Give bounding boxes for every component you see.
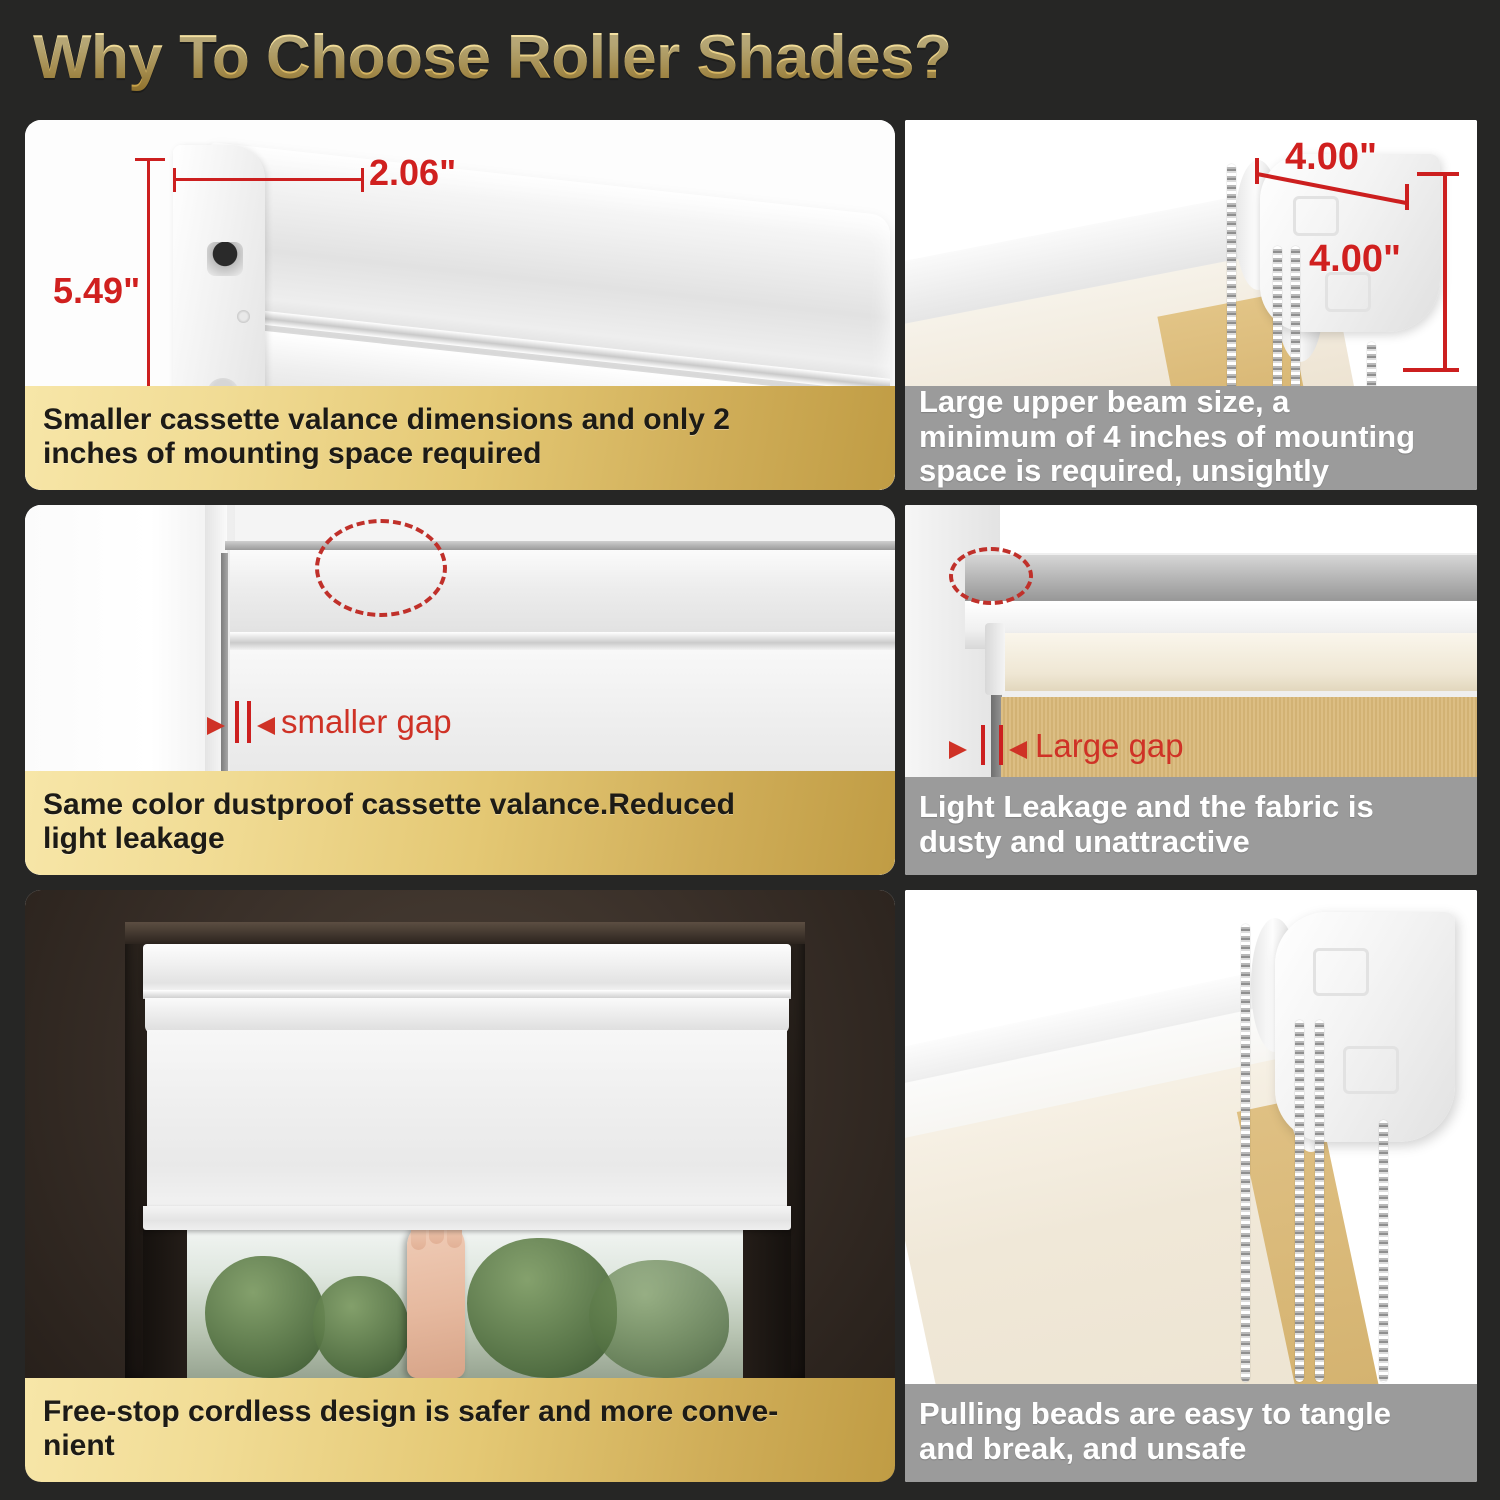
width-dimension-label: 2.06": [369, 152, 456, 194]
panel-con-beaded-chain: Pulling beads are easy to tangle and bre…: [905, 890, 1477, 1482]
window-glass: [185, 1230, 745, 1378]
beam-width-tick-left: [1255, 158, 1259, 184]
width-dimension-tick-right: [361, 168, 364, 192]
bead-chain-1: [1241, 924, 1250, 1382]
gap-callout-label: Large gap: [1035, 727, 1184, 765]
caption-bar-pro-cassette-size: Smaller cassette valance dimensions and …: [25, 386, 895, 490]
title-bar: Why To Choose Roller Shades?: [0, 0, 1500, 112]
roller-tube: [145, 998, 789, 1034]
caption-bar-con-light-leakage: Light Leakage and the fabric is dusty an…: [905, 777, 1477, 875]
caption-text: Smaller cassette valance dimensions and …: [43, 403, 730, 470]
beam-height-dimension-label: 4.00": [1309, 238, 1401, 281]
panel-con-light-leakage: Large gap Light Leakage and the fabric i…: [905, 505, 1477, 875]
width-dimension-tick-left: [173, 168, 176, 192]
gap-marker-line-2: [247, 701, 251, 743]
caption-bar-pro-light-leakage: Same color dustproof cassette valance.Re…: [25, 771, 895, 875]
caption-text: Pulling beads are easy to tangle and bre…: [919, 1397, 1391, 1466]
gap-highlight-circle: [315, 519, 447, 617]
gap-arrow-left: [949, 741, 967, 759]
gap-highlight-circle: [949, 547, 1033, 605]
bracket-emboss-upper: [1313, 948, 1369, 996]
beam-width-tick-right: [1405, 184, 1409, 210]
panel-pro-light-leakage: smaller gap Same color dustproof cassett…: [25, 505, 895, 875]
panel-pro-cordless: Free-stop cordless design is safer and m…: [25, 890, 895, 1482]
end-cap-slot-upper: [207, 242, 243, 276]
panel-pro-cassette-size: 5.49" 2.06" Smaller cassette valance dim…: [25, 120, 895, 490]
gap-arrow-right: [1009, 741, 1027, 759]
gap-callout-label: smaller gap: [281, 703, 452, 741]
end-cap-screw: [237, 310, 250, 323]
cassette-valance: [143, 944, 791, 994]
gap-marker-line-1: [235, 701, 239, 743]
gap-arrow-right: [257, 717, 275, 735]
gap-marker-line-1: [981, 725, 985, 765]
tree-foliage-1: [205, 1256, 325, 1378]
side-bracket: [985, 623, 1005, 695]
bead-chain-3: [1315, 1020, 1324, 1382]
gap-marker-line-2: [999, 725, 1003, 765]
window-frame: [25, 505, 235, 795]
bead-chain-1: [1227, 164, 1236, 410]
height-dimension-label: 5.49": [53, 270, 140, 312]
bottom-rail: [143, 1206, 791, 1230]
caption-bar-con-beaded-chain: Pulling beads are easy to tangle and bre…: [905, 1384, 1477, 1482]
bead-chain-4: [1379, 1120, 1388, 1382]
light-gap-small: [221, 553, 228, 795]
caption-text: Large upper beam size, a minimum of 4 in…: [919, 385, 1415, 489]
caption-text: Free-stop cordless design is safer and m…: [43, 1395, 778, 1462]
caption-text: Light Leakage and the fabric is dusty an…: [919, 790, 1374, 859]
beam-height-dimension-line: [1443, 172, 1447, 372]
width-dimension-line: [173, 178, 363, 181]
window-lintel: [125, 922, 805, 944]
bracket-emboss-upper: [1293, 196, 1339, 236]
beam-width-dimension-label: 4.00": [1285, 136, 1377, 179]
beam-height-tick-top: [1417, 172, 1459, 176]
window-jamb-left: [143, 1230, 187, 1378]
shade-fabric: [147, 1030, 787, 1210]
gap-arrow-left: [207, 717, 225, 735]
bracket-emboss-lower: [1343, 1046, 1399, 1094]
upper-beam-shadow: [965, 555, 1477, 607]
caption-bar-con-beam-size: Large upper beam size, a minimum of 4 in…: [905, 386, 1477, 490]
shade-divider-rail: [230, 632, 895, 650]
caption-bar-pro-cordless: Free-stop cordless design is safer and m…: [25, 1378, 895, 1482]
bead-chain-2: [1295, 1020, 1304, 1382]
tree-foliage-4: [589, 1260, 729, 1378]
panel-con-beam-size: 4.00" 4.00" Large upper beam size, a min…: [905, 120, 1477, 490]
beam-height-tick-bottom: [1403, 368, 1459, 372]
page-title: Why To Choose Roller Shades?: [33, 22, 951, 93]
caption-text: Same color dustproof cassette valance.Re…: [43, 788, 735, 855]
height-dimension-tick-top: [135, 158, 165, 161]
tree-foliage-2: [313, 1276, 409, 1378]
window-jamb-right: [743, 1230, 791, 1378]
valance-strip: [1001, 633, 1477, 691]
